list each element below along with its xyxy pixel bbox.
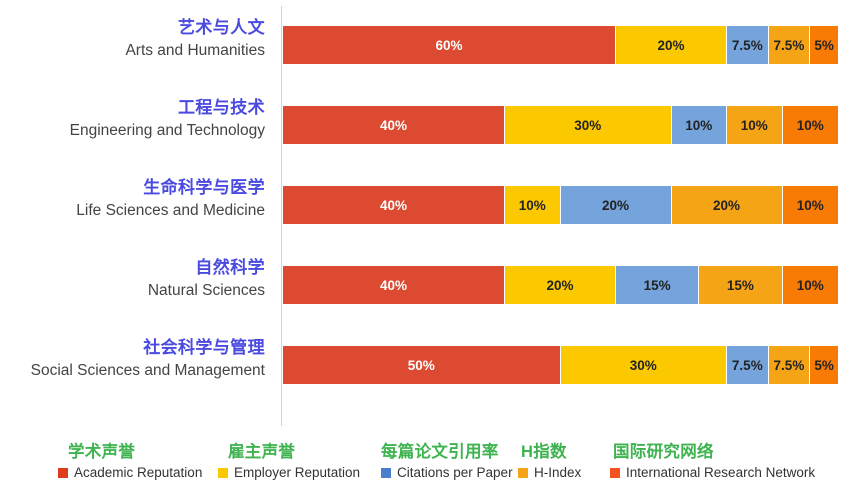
bar-segment-label: 40% xyxy=(380,278,407,293)
legend-chinese-row: 学术声誉雇主声誉每篇论文引用率H指数国际研究网络 xyxy=(0,438,860,464)
bar-segment-label: 30% xyxy=(574,118,601,133)
bar-segment-label: 7.5% xyxy=(732,38,763,53)
bar-segment-label: 7.5% xyxy=(774,358,805,373)
bar-segment[interactable]: 7.5% xyxy=(727,346,769,384)
legend-english-row: Academic ReputationEmployer ReputationCi… xyxy=(0,465,860,489)
bar-segment-label: 10% xyxy=(741,118,768,133)
legend-swatch-icon xyxy=(381,468,391,478)
chart-row: 社会科学与管理 Social Sciences and Management 5… xyxy=(0,328,860,408)
category-label: 艺术与人文 Arts and Humanities xyxy=(0,16,265,62)
bar-segment-label: 10% xyxy=(797,118,824,133)
bar-segment[interactable]: 40% xyxy=(283,266,505,304)
legend-label-en: International Research Network xyxy=(626,465,815,481)
category-label: 自然科学 Natural Sciences xyxy=(0,256,265,302)
legend-item[interactable]: Academic Reputation xyxy=(58,465,202,481)
bar-segment-label: 10% xyxy=(685,118,712,133)
stacked-bar[interactable]: 60%20%7.5%7.5%5% xyxy=(283,26,838,64)
bar-segment-label: 10% xyxy=(797,198,824,213)
legend-item[interactable]: Citations per Paper xyxy=(381,465,513,481)
legend-item[interactable]: International Research Network xyxy=(610,465,815,481)
category-label: 社会科学与管理 Social Sciences and Management xyxy=(0,336,265,382)
legend-label-en: Academic Reputation xyxy=(74,465,202,481)
stacked-bar[interactable]: 40%30%10%10%10% xyxy=(283,106,838,144)
bar-segment-label: 20% xyxy=(713,198,740,213)
legend-item[interactable]: Employer Reputation xyxy=(218,465,360,481)
legend-label-cn: 每篇论文引用率 xyxy=(381,438,499,462)
bar-segment[interactable]: 30% xyxy=(505,106,672,144)
bar-segment-label: 10% xyxy=(797,278,824,293)
bar-segment[interactable]: 20% xyxy=(561,186,672,224)
bar-segment-label: 20% xyxy=(657,38,684,53)
category-label: 生命科学与医学 Life Sciences and Medicine xyxy=(0,176,265,222)
bar-segment-label: 7.5% xyxy=(732,358,763,373)
bar-segment-label: 20% xyxy=(602,198,629,213)
bar-segment[interactable]: 10% xyxy=(505,186,561,224)
bar-segment-label: 5% xyxy=(814,358,834,373)
legend-swatch-icon xyxy=(218,468,228,478)
bar-segment-label: 7.5% xyxy=(774,38,805,53)
category-label-cn: 社会科学与管理 xyxy=(0,336,265,359)
category-label-en: Engineering and Technology xyxy=(0,120,265,142)
bar-segment[interactable]: 7.5% xyxy=(769,346,811,384)
category-label-en: Arts and Humanities xyxy=(0,40,265,62)
category-label-cn: 自然科学 xyxy=(0,256,265,279)
bar-segment[interactable]: 20% xyxy=(505,266,616,304)
bar-segment[interactable]: 10% xyxy=(783,186,839,224)
bar-segment-label: 15% xyxy=(727,278,754,293)
bar-segment[interactable]: 15% xyxy=(699,266,782,304)
bar-segment[interactable]: 10% xyxy=(672,106,728,144)
bar-segment[interactable]: 7.5% xyxy=(769,26,811,64)
bar-segment[interactable]: 60% xyxy=(283,26,616,64)
bar-segment[interactable]: 40% xyxy=(283,106,505,144)
bar-segment[interactable]: 7.5% xyxy=(727,26,769,64)
bar-segment-label: 40% xyxy=(380,118,407,133)
bar-segment[interactable]: 30% xyxy=(561,346,728,384)
bar-segment-label: 60% xyxy=(435,38,462,53)
stacked-bar[interactable]: 40%20%15%15%10% xyxy=(283,266,838,304)
category-label-cn: 艺术与人文 xyxy=(0,16,265,39)
category-label-cn: 工程与技术 xyxy=(0,96,265,119)
legend-label-cn: 学术声誉 xyxy=(68,438,135,462)
bar-segment-label: 20% xyxy=(546,278,573,293)
bar-segment-label: 50% xyxy=(408,358,435,373)
chart-row: 自然科学 Natural Sciences 40%20%15%15%10% xyxy=(0,248,860,328)
category-label-en: Life Sciences and Medicine xyxy=(0,200,265,222)
legend-label-cn: 国际研究网络 xyxy=(613,438,714,462)
category-label-en: Social Sciences and Management xyxy=(0,360,265,382)
bar-segment-label: 40% xyxy=(380,198,407,213)
legend-item[interactable]: H-Index xyxy=(518,465,581,481)
legend-label-en: Employer Reputation xyxy=(234,465,360,481)
bar-segment[interactable]: 15% xyxy=(616,266,699,304)
stacked-bar[interactable]: 50%30%7.5%7.5%5% xyxy=(283,346,838,384)
plot-area: 艺术与人文 Arts and Humanities 60%20%7.5%7.5%… xyxy=(0,0,860,432)
bar-segment[interactable]: 40% xyxy=(283,186,505,224)
legend-label-en: H-Index xyxy=(534,465,581,481)
legend-label-cn: 雇主声誉 xyxy=(228,438,295,462)
category-label-cn: 生命科学与医学 xyxy=(0,176,265,199)
bar-segment-label: 5% xyxy=(814,38,834,53)
bar-segment[interactable]: 20% xyxy=(616,26,727,64)
bar-segment[interactable]: 5% xyxy=(810,346,838,384)
bar-segment-label: 10% xyxy=(519,198,546,213)
legend-label-cn: H指数 xyxy=(521,438,567,462)
bar-segment-label: 15% xyxy=(644,278,671,293)
category-label: 工程与技术 Engineering and Technology xyxy=(0,96,265,142)
bar-segment[interactable]: 20% xyxy=(672,186,783,224)
chart-row: 艺术与人文 Arts and Humanities 60%20%7.5%7.5%… xyxy=(0,8,860,88)
bar-segment[interactable]: 10% xyxy=(783,266,839,304)
stacked-bar-chart: 艺术与人文 Arts and Humanities 60%20%7.5%7.5%… xyxy=(0,0,860,493)
legend-swatch-icon xyxy=(518,468,528,478)
stacked-bar[interactable]: 40%10%20%20%10% xyxy=(283,186,838,224)
legend-label-en: Citations per Paper xyxy=(397,465,513,481)
category-label-en: Natural Sciences xyxy=(0,280,265,302)
chart-row: 生命科学与医学 Life Sciences and Medicine 40%10… xyxy=(0,168,860,248)
chart-legend: 学术声誉雇主声誉每篇论文引用率H指数国际研究网络 Academic Reputa… xyxy=(0,432,860,493)
legend-swatch-icon xyxy=(58,468,68,478)
bar-segment[interactable]: 50% xyxy=(283,346,561,384)
legend-swatch-icon xyxy=(610,468,620,478)
bar-segment[interactable]: 5% xyxy=(810,26,838,64)
bar-segment[interactable]: 10% xyxy=(783,106,839,144)
bar-segment[interactable]: 10% xyxy=(727,106,783,144)
chart-row: 工程与技术 Engineering and Technology 40%30%1… xyxy=(0,88,860,168)
bar-segment-label: 30% xyxy=(630,358,657,373)
